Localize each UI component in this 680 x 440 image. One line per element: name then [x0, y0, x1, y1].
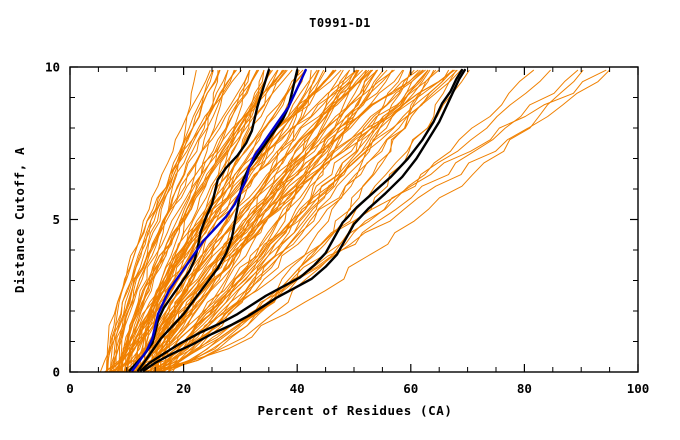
x-tick-label: 80 [517, 381, 532, 396]
chart-page: T0991-D1 0204060801000510 Percent of Res… [0, 0, 680, 440]
distance-cutoff-plot: 0204060801000510 Percent of Residues (CA… [0, 0, 680, 440]
x-tick-label: 100 [627, 381, 650, 396]
x-tick-label: 20 [176, 381, 191, 396]
x-tick-label: 40 [290, 381, 305, 396]
x-tick-label: 0 [66, 381, 74, 396]
y-tick-label: 10 [45, 60, 60, 75]
y-tick-label: 0 [52, 365, 60, 380]
y-tick-label: 5 [52, 212, 60, 227]
x-axis-title: Percent of Residues (CA) [257, 403, 452, 418]
y-axis-title: Distance Cutoff, A [12, 147, 27, 293]
axes-layer: 0204060801000510 [45, 60, 649, 397]
x-tick-label: 60 [403, 381, 418, 396]
curves-layer [100, 70, 609, 372]
